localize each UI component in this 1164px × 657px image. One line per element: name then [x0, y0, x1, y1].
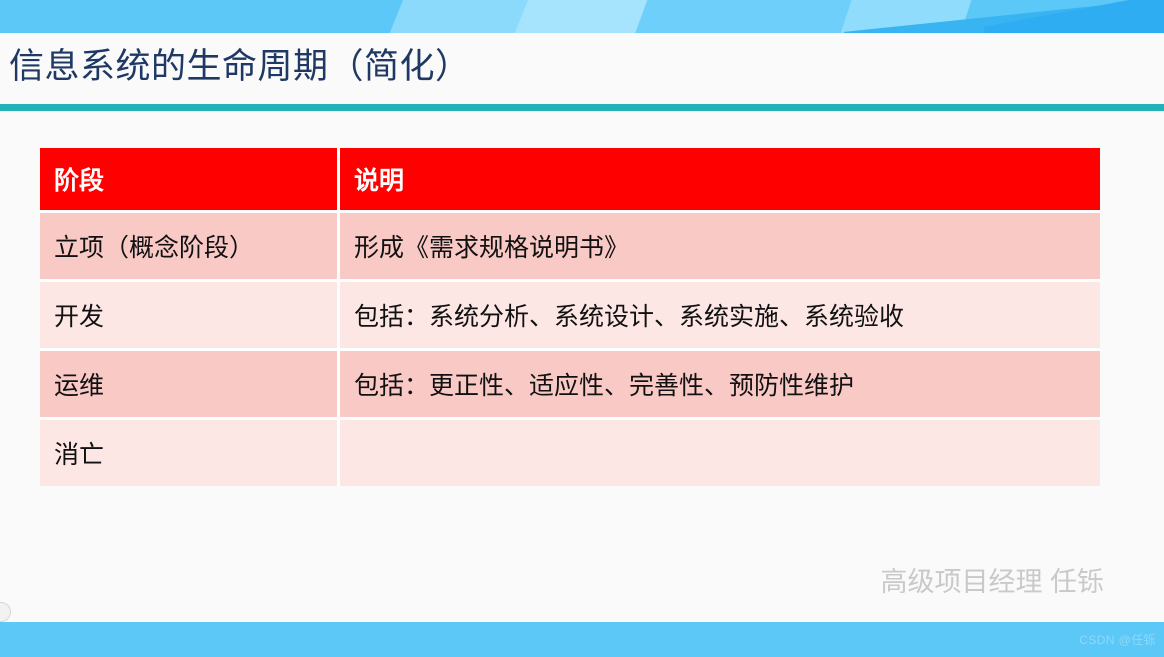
page-title: 信息系统的生命周期（简化） [9, 44, 471, 90]
cell-description [340, 420, 1100, 486]
slide-canvas: 信息系统的生命周期（简化） 阶段 说明 立项（概念阶段） 形成《需求规格说明书》… [0, 0, 1164, 657]
cell-description: 包括：更正性、适应性、完善性、预防性维护 [340, 351, 1100, 420]
table-row: 开发 包括：系统分析、系统设计、系统实施、系统验收 [40, 282, 1100, 351]
table-header-row: 阶段 说明 [40, 148, 1100, 213]
cell-stage: 开发 [40, 282, 340, 351]
banner-wedge-right-inner [984, 0, 1164, 33]
cell-description: 形成《需求规格说明书》 [340, 213, 1100, 282]
author-watermark: 高级项目经理 任铄 [880, 560, 1104, 599]
cell-stage: 消亡 [40, 420, 340, 486]
table-header: 阶段 说明 [40, 148, 1100, 213]
table-body: 立项（概念阶段） 形成《需求规格说明书》 开发 包括：系统分析、系统设计、系统实… [40, 213, 1100, 486]
cell-description: 包括：系统分析、系统设计、系统实施、系统验收 [340, 282, 1100, 351]
top-decorative-banner [0, 0, 1164, 33]
edge-circle-artifact [0, 602, 11, 622]
column-header-description: 说明 [340, 148, 1100, 213]
cell-stage: 运维 [40, 351, 340, 420]
table-row: 运维 包括：更正性、适应性、完善性、预防性维护 [40, 351, 1100, 420]
bottom-decorative-bar [0, 622, 1164, 657]
table-row: 消亡 [40, 420, 1100, 486]
title-divider-rule [0, 104, 1164, 111]
column-header-stage: 阶段 [40, 148, 340, 213]
table-row: 立项（概念阶段） 形成《需求规格说明书》 [40, 213, 1100, 282]
lifecycle-table: 阶段 说明 立项（概念阶段） 形成《需求规格说明书》 开发 包括：系统分析、系统… [40, 148, 1100, 486]
csdn-watermark: CSDN @任铄 [1079, 631, 1156, 648]
cell-stage: 立项（概念阶段） [40, 213, 340, 282]
